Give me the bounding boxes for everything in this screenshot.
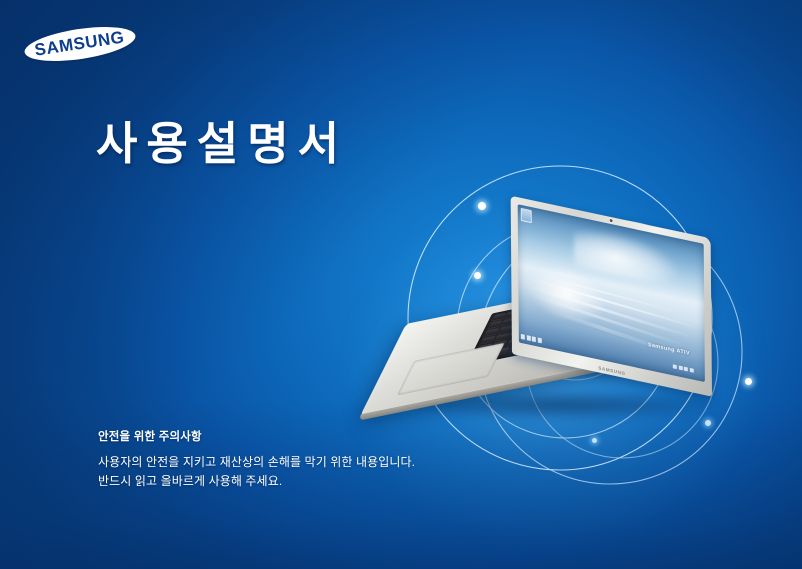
bezel-brand-label: SAMSUNG	[598, 365, 625, 376]
laptop-trackpad	[398, 343, 505, 395]
webcam-icon	[609, 219, 612, 223]
arc-node-right-mid	[745, 378, 752, 385]
laptop-illustration: Samsung ATIV SAMSUNG	[404, 196, 744, 411]
system-tray[interactable]	[673, 364, 694, 372]
safety-notice-heading: 안전을 위한 주의사항	[98, 428, 415, 444]
laptop-screen: Samsung ATIV	[518, 204, 705, 382]
safety-notice-line-2: 반드시 읽고 올바르게 사용해 주세요.	[98, 472, 415, 491]
safety-notice-line-1: 사용자의 안전을 지키고 재산상의 손해를 막기 위한 내용입니다.	[98, 453, 415, 472]
manual-cover-page: SAMSUNG 사용설명서	[0, 0, 802, 569]
wallpaper-brand-text: Samsung ATIV	[648, 342, 690, 357]
samsung-logo: SAMSUNG	[24, 29, 136, 59]
safety-notice: 안전을 위한 주의사항 사용자의 안전을 지키고 재산상의 손해를 막기 위한 …	[98, 428, 415, 490]
arc-node-right-lower	[705, 420, 711, 426]
arc-node-bottom	[592, 438, 597, 443]
page-title: 사용설명서	[96, 117, 348, 171]
desktop-shortcut-icon[interactable]	[521, 208, 532, 223]
taskbar[interactable]	[521, 334, 542, 343]
